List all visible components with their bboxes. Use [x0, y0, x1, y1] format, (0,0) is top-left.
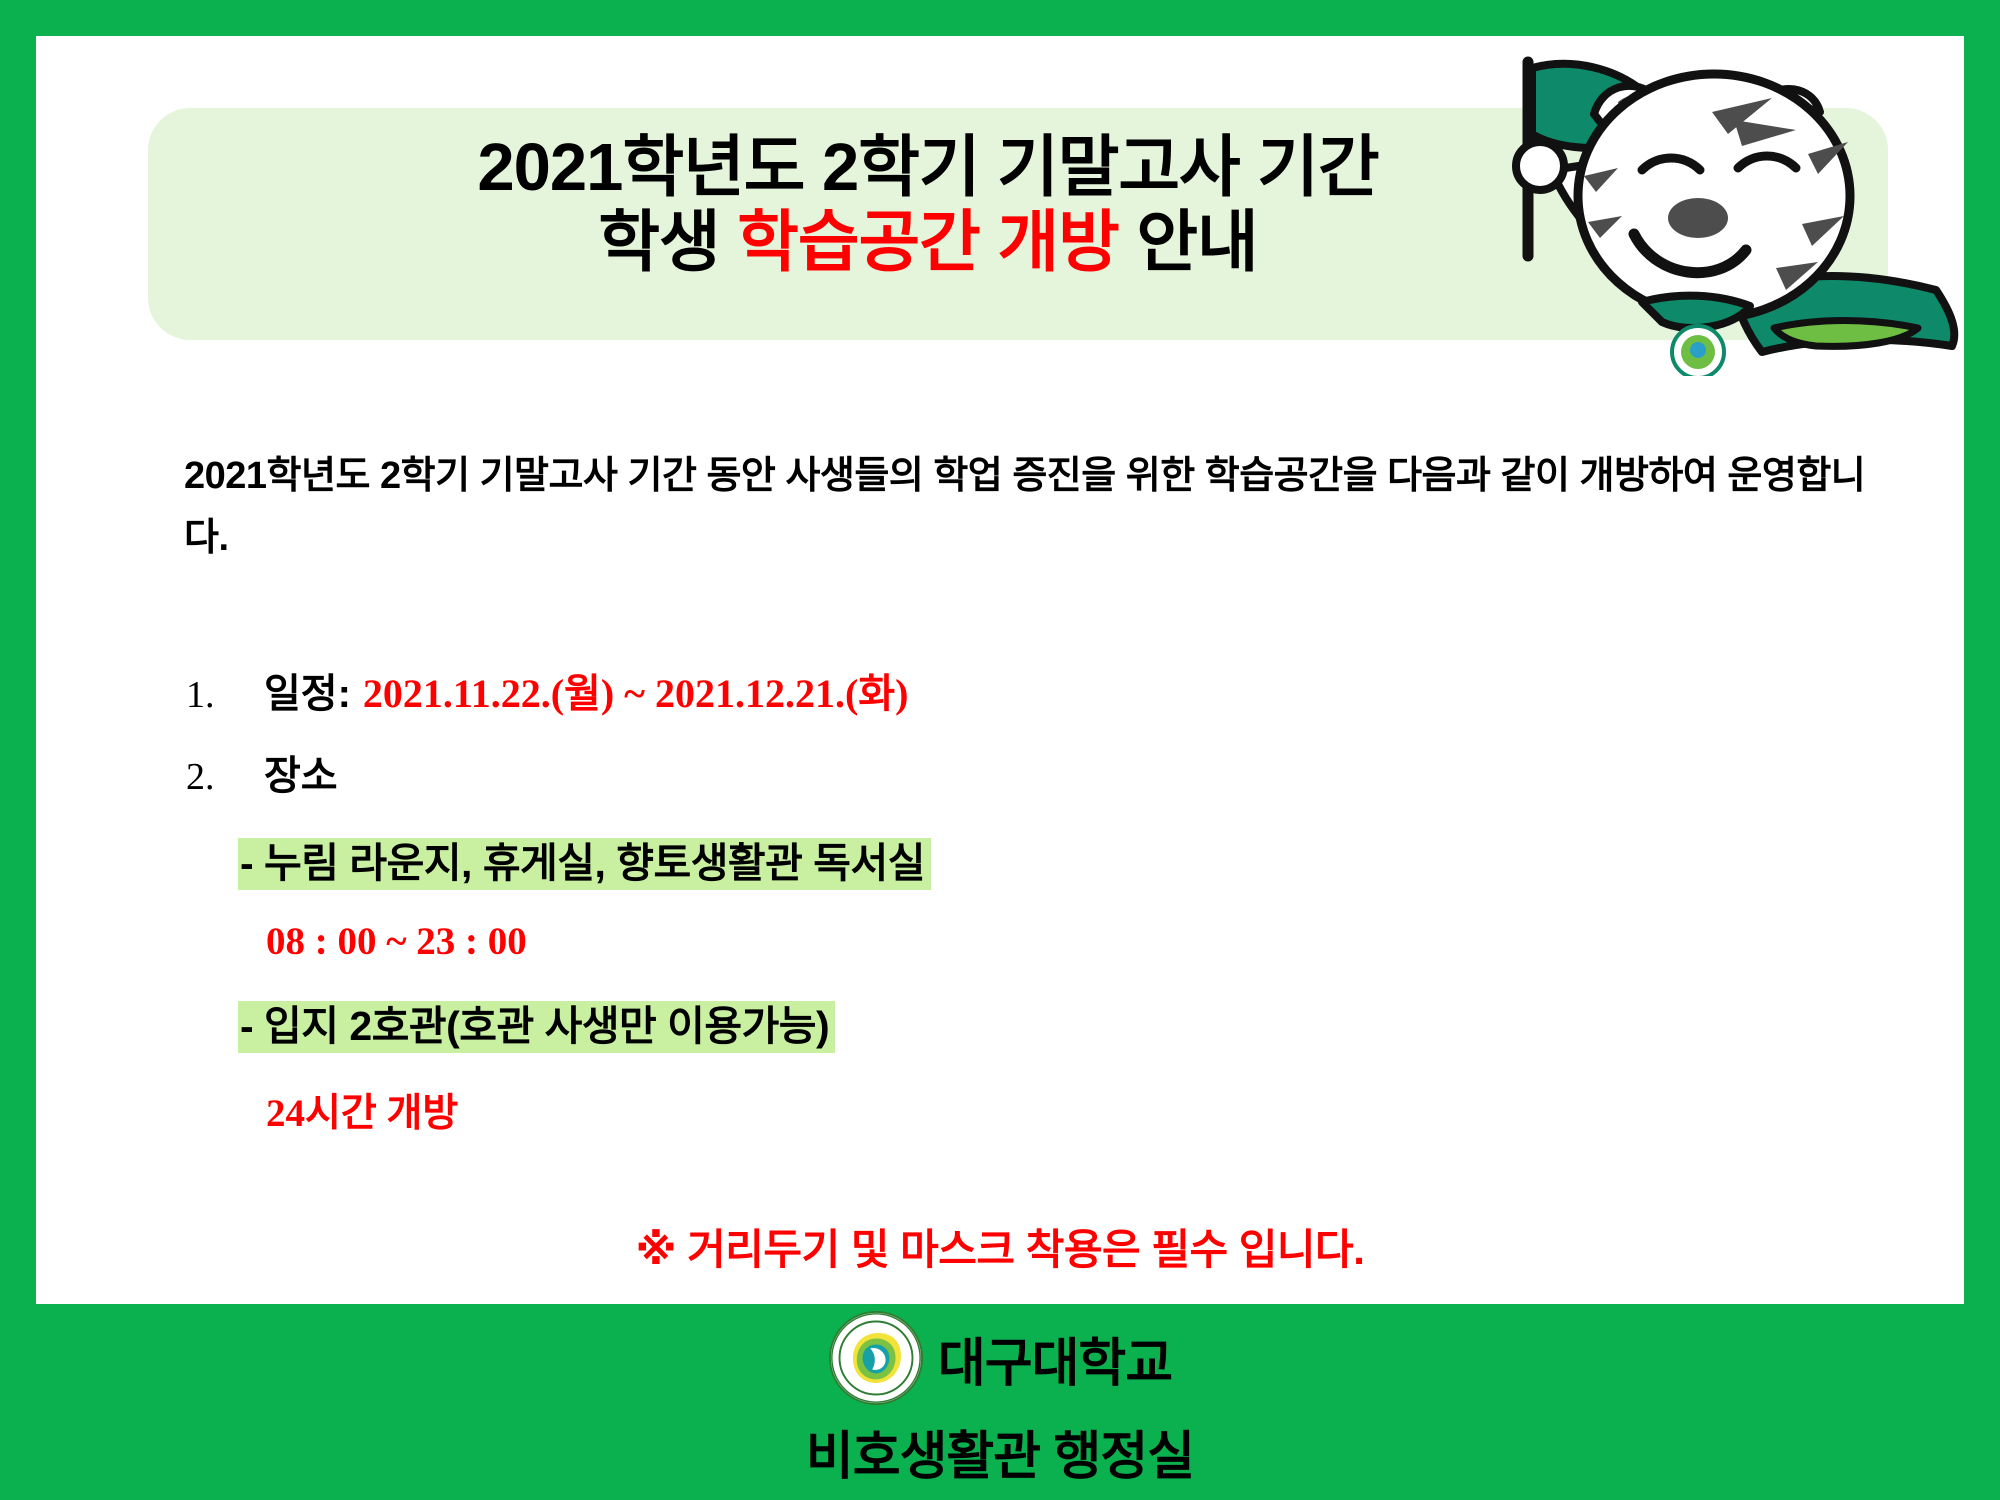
list-item-number: 1. [186, 673, 264, 717]
poster-root: 2021학년도 2학기 기말고사 기간 학생 학습공간 개방 안내 [0, 0, 2000, 1500]
title-line-2-post: 안내 [1119, 205, 1258, 280]
footer: 대구대학교 비호생활관 행정실 [0, 1310, 2000, 1489]
title-line-1: 2021학년도 2학기 기말고사 기간 [148, 130, 1708, 205]
list-item-schedule: 1. 일정: 2021.11.22.(월) ~ 2021.12.21.(화) [186, 661, 1786, 719]
place-name-1: - 누림 라운지, 휴게실, 향토생활관 독서실 [238, 838, 931, 890]
poster-page: 2021학년도 2학기 기말고사 기간 학생 학습공간 개방 안내 [36, 36, 1964, 1304]
place-name-2: - 입지 2호관(호관 사생만 이용가능) [238, 1001, 835, 1053]
footer-office-name: 비호생활관 행정실 [0, 1414, 2000, 1489]
place-row-1: - 누림 라운지, 휴게실, 향토생활관 독서실 [238, 829, 1786, 889]
header-band: 2021학년도 2학기 기말고사 기간 학생 학습공간 개방 안내 [148, 108, 1888, 340]
place-row-2: - 입지 2호관(호관 사생만 이용가능) [238, 992, 1786, 1052]
list-item-number: 2. [186, 755, 264, 799]
safety-notice: ※ 거리두기 및 마스크 착용은 필수 입니다. [36, 1216, 1964, 1277]
footer-university-name: 대구대학교 [938, 1321, 1172, 1396]
title-line-2-pre: 학생 [598, 205, 737, 280]
detail-list: 1. 일정: 2021.11.22.(월) ~ 2021.12.21.(화) 2… [186, 661, 1786, 1138]
daegu-university-emblem-icon [828, 1310, 924, 1406]
title-line-2-highlight: 학습공간 개방 [737, 205, 1118, 280]
schedule-value: 2021.11.22.(월) ~ 2021.12.21.(화) [363, 661, 908, 719]
list-item-label: 장소 [264, 743, 338, 801]
list-item-label: 일정: [264, 661, 351, 719]
place-hours-1: 08 : 00 ~ 23 : 00 [266, 919, 1786, 964]
title-line-2: 학생 학습공간 개방 안내 [148, 205, 1708, 280]
place-hours-2: 24시간 개방 [266, 1082, 1786, 1138]
page-title: 2021학년도 2학기 기말고사 기간 학생 학습공간 개방 안내 [148, 130, 1708, 280]
list-item-location: 2. 장소 [186, 743, 1786, 801]
footer-university-line: 대구대학교 [0, 1310, 2000, 1406]
intro-paragraph: 2021학년도 2학기 기말고사 기간 동안 사생들의 학업 증진을 위한 학습… [184, 446, 1874, 569]
